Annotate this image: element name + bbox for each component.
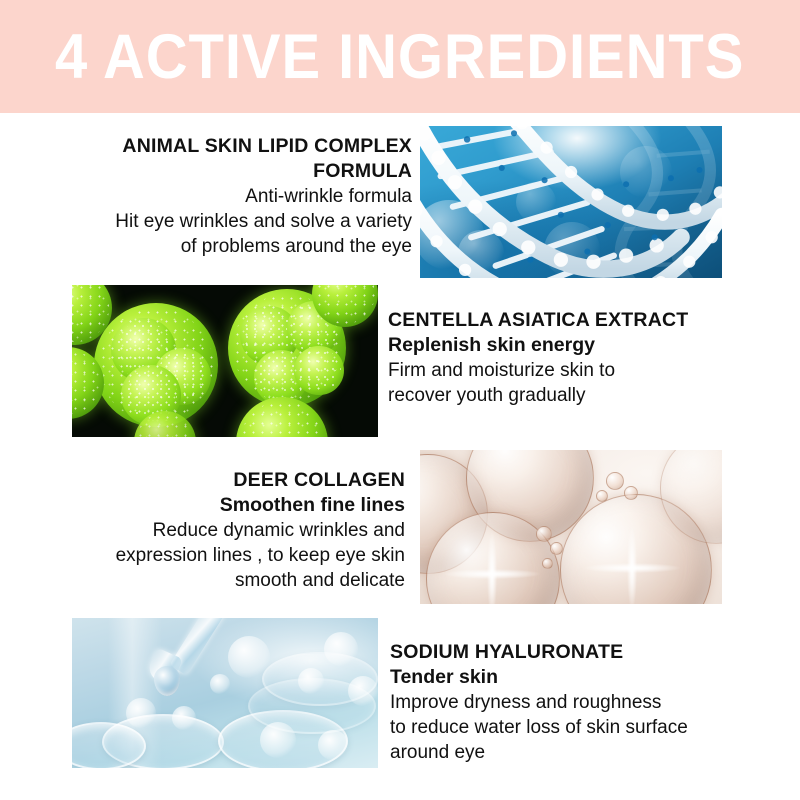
header-band: 4 ACTIVE INGREDIENTS [0,0,800,113]
ingredient-4-text: SODIUM HYALURONATE Tender skin Improve d… [390,640,770,765]
bubbles-photo-content [420,450,722,604]
dna-double-helix-photo [420,126,722,278]
pipette-petri-dish-photo [72,618,378,768]
small-bubble [536,526,552,542]
ingredient-2-body-line-2: recover youth gradually [388,383,760,408]
dna-photo-content [420,126,722,278]
algae-cell [236,397,328,437]
small-bubble [596,490,608,502]
algae-daughter-cell [154,348,211,405]
ingredient-2-title: CENTELLA ASIATICA EXTRACT [388,308,760,333]
algae-cell [94,303,218,427]
small-bubble [550,542,563,555]
ingredient-3-body-line-2: expression lines , to keep eye skin [40,543,405,568]
ingredient-2-body-line-1: Firm and moisturize skin to [388,358,760,383]
bokeh-circle [126,698,156,728]
ingredient-3-text: DEER COLLAGEN Smoothen fine lines Reduce… [40,468,405,593]
small-bubble [624,486,638,500]
liquid-droplet [154,666,180,696]
ingredient-4-title: SODIUM HYALURONATE [390,640,770,665]
bokeh-circle [172,706,196,730]
ingredient-1-body-line-1: Hit eye wrinkles and solve a variety [40,209,412,234]
golden-collagen-bubbles-photo [420,450,722,604]
bokeh-circle [210,674,230,694]
bokeh-circle [324,632,358,666]
ingredient-4-body-line-2: to reduce water loss of skin surface [390,715,770,740]
ingredient-1-title-line2: FORMULA [40,159,412,184]
dna-helix-illustration [420,126,722,278]
ingredient-1-body-line-2: of problems around the eye [40,234,412,259]
ingredient-3-body-line-3: smooth and delicate [40,568,405,593]
bokeh-circle [298,668,324,694]
ingredient-4-body-line-3: around eye [390,740,770,765]
small-bubble [606,472,624,490]
algae-daughter-cell [294,346,344,396]
ingredient-3-body-line-1: Reduce dynamic wrinkles and [40,518,405,543]
page-title: 4 ACTIVE INGREDIENTS [55,26,744,89]
ingredient-1-title: ANIMAL SKIN LIPID COMPLEX [40,134,412,159]
ingredient-2-text: CENTELLA ASIATICA EXTRACT Replenish skin… [388,308,760,408]
lab-photo-content [72,618,378,768]
bokeh-circle [348,676,378,706]
ingredient-3-title: DEER COLLAGEN [40,468,405,493]
infographic-page: 4 ACTIVE INGREDIENTS ANIMAL SKIN LIPID C… [0,0,800,800]
bokeh-circle [260,722,296,758]
ingredient-3-subtitle: Smoothen fine lines [40,493,405,518]
cells-photo-content [72,285,378,437]
ingredient-1-subtitle: Anti-wrinkle formula [40,184,412,209]
algae-daughter-cell [111,318,175,382]
ingredient-2-subtitle: Replenish skin energy [388,333,760,358]
small-bubble [542,558,553,569]
ingredient-4-body-line-1: Improve dryness and roughness [390,690,770,715]
algae-daughter-cell [240,306,299,365]
bokeh-circle [228,636,270,678]
ingredient-4-subtitle: Tender skin [390,665,770,690]
green-algae-cells-photo [72,285,378,437]
ingredient-1-text: ANIMAL SKIN LIPID COMPLEX FORMULA Anti-w… [40,134,412,259]
bokeh-circle [318,730,348,760]
